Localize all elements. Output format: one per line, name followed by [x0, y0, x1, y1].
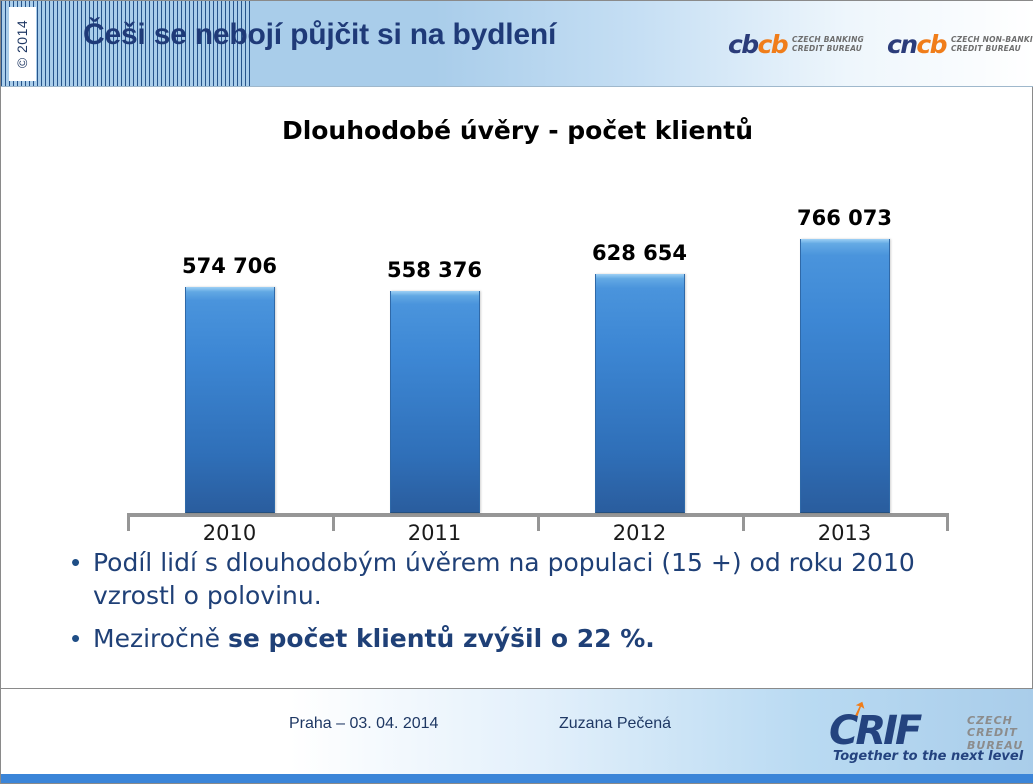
footer-author: Zuzana Pečená [559, 715, 671, 733]
cbcb-logo-subtitle-line2: CREDIT BUREAU [792, 44, 862, 53]
cncb-logo-navy-text: cn [887, 32, 916, 57]
bullet-text: Meziročně se počet klientů zvýšil o 22 %… [93, 622, 655, 655]
bar-2012[interactable] [595, 274, 685, 513]
crif-subtitle-line2: CREDIT [967, 726, 1018, 739]
cbcb-logo-navy-text: cb [728, 32, 758, 57]
bar-slot: 574 706 [127, 173, 332, 513]
bullet-text-normal: Podíl lidí s dlouhodobým úvěrem na popul… [93, 548, 915, 610]
crif-subtitle: CZECH CREDIT BUREAU [967, 715, 1023, 752]
bullet-marker-icon: • [67, 546, 93, 578]
copyright-text: © 2014 [15, 20, 31, 68]
bullet-list: •Podíl lidí s dlouhodobým úvěrem na popu… [67, 546, 967, 665]
category-label-2012: 2012 [537, 521, 742, 545]
footer-place-date: Praha – 03. 04. 2014 [289, 715, 438, 733]
crif-subtitle-line1: CZECH [967, 714, 1013, 727]
bar-slot: 766 073 [742, 173, 947, 513]
bar-slot: 628 654 [537, 173, 742, 513]
copyright-badge: © 2014 [9, 7, 36, 81]
cncb-logo: cncb CZECH NON-BANKING CREDIT BUREAU [887, 32, 1033, 57]
cbcb-logo-orange-text: cb [758, 32, 788, 57]
slide-header: © 2014 Češi se nebojí půjčit si na bydle… [1, 1, 1033, 87]
bar-chart: Dlouhodobé úvěry - počet klientů 574 706… [1, 88, 1033, 528]
bullet-marker-icon: • [67, 622, 93, 654]
crif-logo: ➚ CRIF CZECH CREDIT BUREAU Together to t… [819, 697, 1025, 767]
slide-canvas: © 2014 Češi se nebojí půjčit si na bydle… [0, 0, 1033, 784]
chart-plot-area: 574 706558 376628 654766 073 20102011201… [127, 163, 949, 543]
bar-value-label: 574 706 [182, 254, 277, 278]
bullet-item: •Meziročně se počet klientů zvýšil o 22 … [67, 622, 967, 655]
bar-2011[interactable] [390, 291, 480, 513]
bar-value-label: 628 654 [592, 241, 687, 265]
cbcb-logo-subtitle: CZECH BANKING CREDIT BUREAU [792, 36, 864, 52]
bullet-item: •Podíl lidí s dlouhodobým úvěrem na popu… [67, 546, 967, 612]
bar-slot: 558 376 [332, 173, 537, 513]
page-title: Češi se nebojí půjčit si na bydlení [83, 18, 556, 52]
bar-value-label: 766 073 [797, 206, 892, 230]
bullet-text: Podíl lidí s dlouhodobým úvěrem na popul… [93, 546, 967, 612]
cncb-logo-subtitle-line2: CREDIT BUREAU [951, 44, 1021, 53]
bottom-accent-bar [1, 774, 1033, 783]
crif-tagline: Together to the next level [833, 749, 1023, 764]
chart-title: Dlouhodobé úvěry - počet klientů [1, 116, 1033, 145]
cbcb-logo: cbcb CZECH BANKING CREDIT BUREAU [728, 32, 864, 57]
category-label-2010: 2010 [127, 521, 332, 545]
bar-2010[interactable] [185, 287, 275, 513]
category-label-2011: 2011 [332, 521, 537, 545]
bar-value-label: 558 376 [387, 258, 482, 282]
cncb-logo-orange-text: cb [916, 32, 946, 57]
bullet-text-normal: Meziročně [93, 624, 228, 653]
slide-footer: Praha – 03. 04. 2014 Zuzana Pečená ➚ CRI… [1, 688, 1033, 774]
bar-2013[interactable] [800, 239, 890, 513]
crif-wordmark: CRIF [829, 711, 919, 751]
category-label-2013: 2013 [742, 521, 947, 545]
cncb-logo-subtitle: CZECH NON-BANKING CREDIT BUREAU [951, 36, 1033, 52]
bullet-text-bold: se počet klientů zvýšil o 22 %. [228, 624, 655, 653]
